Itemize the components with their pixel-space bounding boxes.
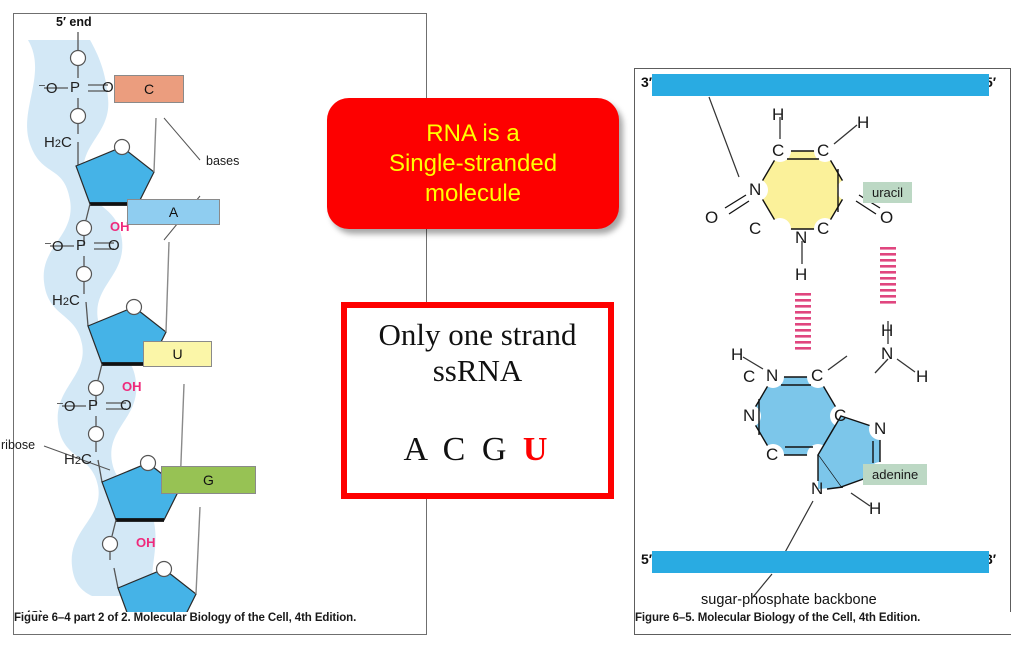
adenine-atom-n-left: N	[743, 406, 755, 426]
uracil-atom-h-bottom: H	[795, 265, 807, 285]
atom-label-h2c-2: H2C	[52, 292, 80, 309]
adenine-tag: adenine	[863, 464, 927, 485]
three-prime-top-left: 3′	[641, 74, 652, 90]
five-prime-end-label: 5′ end	[56, 15, 92, 29]
hydrogen-bond-right	[880, 247, 896, 304]
uracil-atom-o-right: O	[880, 208, 893, 228]
uracil-atom-h-top: H	[772, 105, 784, 125]
base-box-a-label: A	[169, 204, 178, 220]
atom-label-h2c-1: H2C	[44, 134, 72, 151]
callout-line-3: molecule	[389, 179, 557, 209]
uracil-tag: uracil	[863, 182, 912, 203]
adenine-atom-c-top-right: C	[811, 366, 823, 386]
hydroxyl-label-2: OH	[122, 379, 142, 394]
base-box-u[interactable]: U	[143, 341, 212, 367]
right-figure-caption: Figure 6–5. Molecular Biology of the Cel…	[635, 612, 1011, 634]
rna-single-stranded-callout[interactable]: RNA is a Single-stranded molecule	[327, 98, 619, 229]
rna-bases-acg: A C G	[404, 431, 523, 468]
uracil-atom-c-top-right: C	[817, 141, 829, 161]
backbone-bar-bottom	[652, 551, 989, 573]
adenine-amine-n: N	[881, 344, 893, 364]
base-box-c[interactable]: C	[114, 75, 184, 103]
atom-label-o-3: O	[120, 397, 132, 414]
atom-label-o-1: O	[102, 79, 114, 96]
atom-label-minus-o-1: ⁻O	[38, 79, 58, 97]
atom-label-p-2: P	[76, 237, 86, 254]
uracil-atom-n-left: N	[749, 180, 761, 200]
base-box-c-label: C	[144, 81, 154, 97]
adenine-atom-h-five: H	[869, 499, 881, 519]
rna-base-letters: A C G U	[347, 431, 608, 469]
ssrna-text-box[interactable]: Only one strand ssRNA A C G U	[341, 302, 614, 499]
atom-label-h2c-3: H2C	[64, 451, 92, 468]
hydroxyl-label-3: OH	[136, 535, 156, 550]
uracil-atom-c-top-left: C	[772, 141, 784, 161]
base-box-u-label: U	[172, 346, 182, 362]
hydrogen-bond-left	[795, 293, 811, 350]
adenine-atom-n-five-top: N	[874, 419, 886, 439]
adenine-atom-h-left: H	[731, 345, 743, 365]
callout-line-2: Single-stranded	[389, 149, 557, 179]
adenine-atom-c-bottom: C	[766, 445, 778, 465]
uracil-atom-c-bottom-right: C	[817, 219, 829, 239]
base-box-g-label: G	[203, 472, 214, 488]
base-box-g[interactable]: G	[161, 466, 256, 494]
atom-label-p-1: P	[70, 79, 80, 96]
bases-label: bases	[206, 154, 239, 168]
ssrna-line-2: ssRNA	[347, 353, 608, 389]
rna-base-u: U	[523, 431, 552, 468]
uracil-atom-o-left: O	[705, 208, 718, 228]
adenine-atom-c-top-left: C	[743, 367, 755, 387]
ribose-label: ribose	[1, 438, 35, 452]
atom-label-minus-o-3: ⁻O	[56, 397, 76, 415]
base-box-a[interactable]: A	[127, 199, 220, 225]
uracil-atom-n-bottom: N	[795, 228, 807, 248]
atom-label-minus-o-2: ⁻O	[44, 237, 64, 255]
atom-label-o-2: O	[108, 237, 120, 254]
five-prime-bottom-left: 5′	[641, 551, 652, 567]
uracil-atom-h-right: H	[857, 113, 869, 133]
backbone-bar-top	[652, 74, 989, 96]
right-figure-panel: H C C H N C C O O N H H N H H N C C N C …	[634, 68, 1011, 635]
ssrna-line-1: Only one strand	[347, 317, 608, 353]
adenine-atom-c-right: C	[834, 406, 846, 426]
adenine-amine-h: H	[916, 367, 928, 387]
sugar-phosphate-backbone-label: sugar-phosphate backbone	[701, 592, 877, 608]
adenine-atom-n-nine: N	[811, 479, 823, 499]
left-figure-caption: Figure 6–4 part 2 of 2. Molecular Biolog…	[14, 612, 418, 634]
adenine-atom-n-top: N	[766, 366, 778, 386]
uracil-atom-c-bottom-left: C	[749, 219, 761, 239]
callout-line-1: RNA is a	[389, 119, 557, 149]
atom-label-p-3: P	[88, 397, 98, 414]
adenine-atom-h-amine: H	[881, 321, 893, 341]
